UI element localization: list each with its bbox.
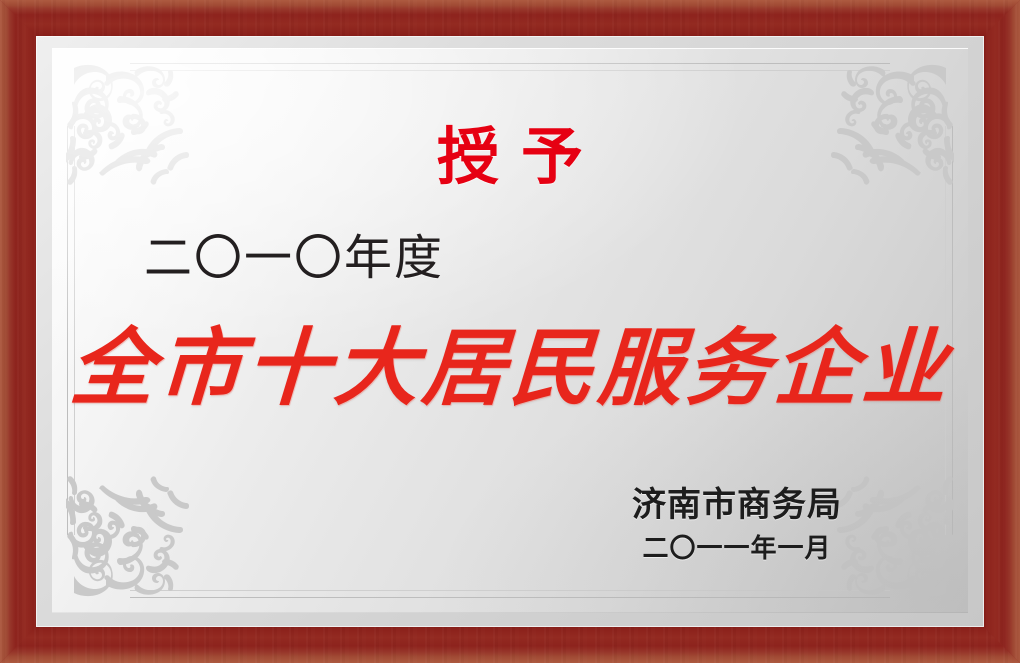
award-year-text: 二〇一〇年度 [144, 234, 444, 282]
frame-rail-left [0, 0, 39, 663]
wood-grain-texture [0, 624, 1020, 663]
wood-grain-texture [0, 0, 1020, 39]
issuer-name-text: 济南市商务局 [632, 486, 842, 525]
award-plaque: 授予 二〇一〇年度 全市十大居民服务企业 济南市商务局 二〇一一年一月 [0, 0, 1020, 663]
plaque-inscription: 授予 二〇一〇年度 全市十大居民服务企业 济南市商务局 二〇一一年一月 [52, 48, 968, 613]
wood-grain-texture [981, 0, 1020, 663]
frame-rail-bottom [0, 624, 1020, 663]
wood-grain-texture [0, 0, 39, 663]
engraved-metal-plate: 授予 二〇一〇年度 全市十大居民服务企业 济南市商务局 二〇一一年一月 [52, 48, 968, 613]
award-title-text: 全市十大居民服务企业 [52, 326, 968, 410]
frame-rail-top [0, 0, 1020, 39]
issue-date-text: 二〇一一年一月 [632, 535, 842, 565]
award-verb-text: 授予 [52, 126, 968, 188]
issuer-signature-block: 济南市商务局 二〇一一年一月 [632, 486, 842, 565]
frame-rail-right [981, 0, 1020, 663]
